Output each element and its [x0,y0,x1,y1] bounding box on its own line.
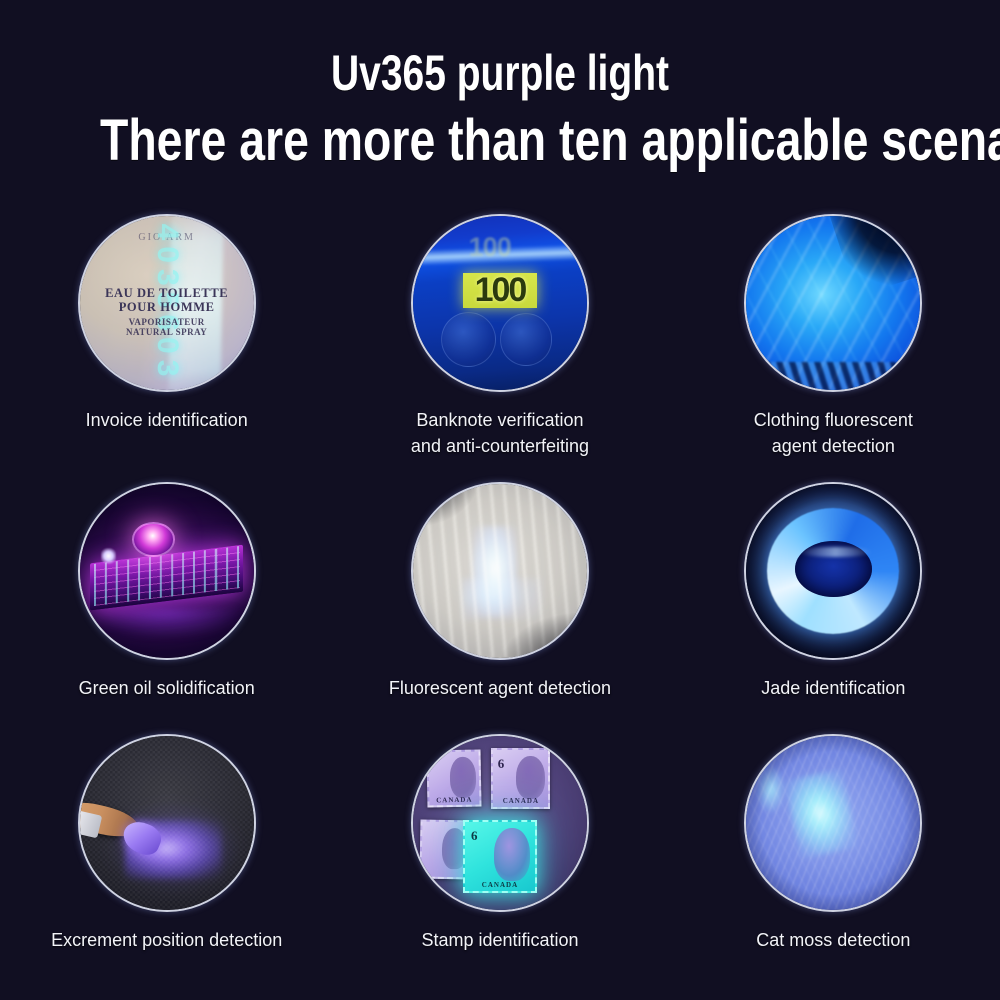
scenario-photo-clothing-fluorescent-agent-detection [744,214,922,392]
scenario-caption: Invoice identification [86,408,248,434]
stamp-portrait [450,757,477,798]
scenario-caption: Stamp identification [421,928,578,954]
scenario-image-wrap [411,482,589,660]
scenario-caption: Clothing fluorescent agent detection [754,408,913,459]
page-title-line1: Uv365 purple light [110,48,890,98]
stamp-country-label: CANADA [493,797,548,805]
stamp-country-label: CANADA [465,881,534,889]
scenario-photo-banknote-verification: 100 100 [411,214,589,392]
scenario-card-green-oil-solidification[interactable]: Green oil solidification [0,482,333,734]
scenario-card-clothing-fluorescent-agent-detection[interactable]: Clothing fluorescent agent detection [667,214,1000,482]
scenario-photo-fluorescent-agent-detection [411,482,589,660]
banknote-medallion-right [500,313,552,365]
shadow-bottom-right [500,613,589,660]
page-title-line2: There are more than ten applicable scena… [100,112,900,170]
scenario-photo-jade-identification [744,482,922,660]
scenario-photo-invoice-identification: GIO ARM 4035603 EAU DE TOILETTE POUR HOM… [78,214,256,392]
stamp-fluorescent: 6 CANADA [463,820,536,893]
scenario-caption: Green oil solidification [79,676,255,702]
scenario-photo-green-oil-solidification [78,482,256,660]
scenario-card-fluorescent-agent-detection[interactable]: Fluorescent agent detection [333,482,666,734]
printed-line-2: POUR HOMME [80,300,254,315]
header: Uv365 purple light There are more than t… [0,0,1000,170]
printed-text-group: GIO ARM 4035603 EAU DE TOILETTE POUR HOM… [80,216,254,390]
stamp-value-label: 6 [498,756,505,772]
infographic-page: Uv365 purple light There are more than t… [0,0,1000,1000]
banknote-uv-watermark: 100 [463,273,536,308]
scenario-card-stamp-identification[interactable]: CANADA 6 CANADA 6 CANADA [333,734,666,984]
printed-line-3: VAPORISATEUR [80,317,254,327]
stamp-portrait [516,756,545,799]
banknote-ghost-number: 100 [469,232,539,260]
stamp-country-label: CANADA [429,795,479,804]
stamp-plain-1: CANADA [426,749,481,807]
vignette [746,484,920,658]
surface-glow [94,609,240,637]
scenario-image-wrap [744,734,922,912]
scenario-photo-excrement-position-detection [78,734,256,912]
led-highlight [101,548,117,564]
scenario-image-wrap [78,482,256,660]
printed-line-4: NATURAL SPRAY [80,327,254,337]
scenario-image-wrap: CANADA 6 CANADA 6 CANADA [411,734,589,912]
scenario-card-banknote-verification[interactable]: 100 100 Banknote verification and anti-c… [333,214,666,482]
scenario-card-invoice-identification[interactable]: GIO ARM 4035603 EAU DE TOILETTE POUR HOM… [0,214,333,482]
scenario-image-wrap [78,734,256,912]
scenario-image-wrap [744,482,922,660]
stamp-plain-2: 6 CANADA [491,748,550,809]
scenario-caption: Banknote verification and anti-counterfe… [411,408,589,459]
scenario-card-jade-identification[interactable]: Jade identification [667,482,1000,734]
scenario-photo-cat-moss-detection [744,734,922,912]
scenario-grid: GIO ARM 4035603 EAU DE TOILETTE POUR HOM… [0,214,1000,984]
scenario-photo-stamp-identification: CANADA 6 CANADA 6 CANADA [411,734,589,912]
scenario-caption: Excrement position detection [51,928,282,954]
component-knob [132,522,176,557]
vignette [746,736,920,910]
scenario-image-wrap [744,214,922,392]
scenario-image-wrap: 100 100 [411,214,589,392]
scenario-card-excrement-position-detection[interactable]: Excrement position detection [0,734,333,984]
stamp-portrait [494,828,530,880]
scenario-caption: Fluorescent agent detection [389,676,611,702]
scenario-image-wrap: GIO ARM 4035603 EAU DE TOILETTE POUR HOM… [78,214,256,392]
scenario-caption: Cat moss detection [756,928,910,954]
printed-line-1: EAU DE TOILETTE [80,286,254,301]
fluorescent-glow-streak [472,526,517,616]
stamp-value-label: 6 [471,828,478,844]
scenario-caption: Jade identification [761,676,905,702]
shadow-top-left [411,482,479,526]
fabric-edge-stripes [744,362,922,392]
scenario-card-cat-moss-detection[interactable]: Cat moss detection [667,734,1000,984]
